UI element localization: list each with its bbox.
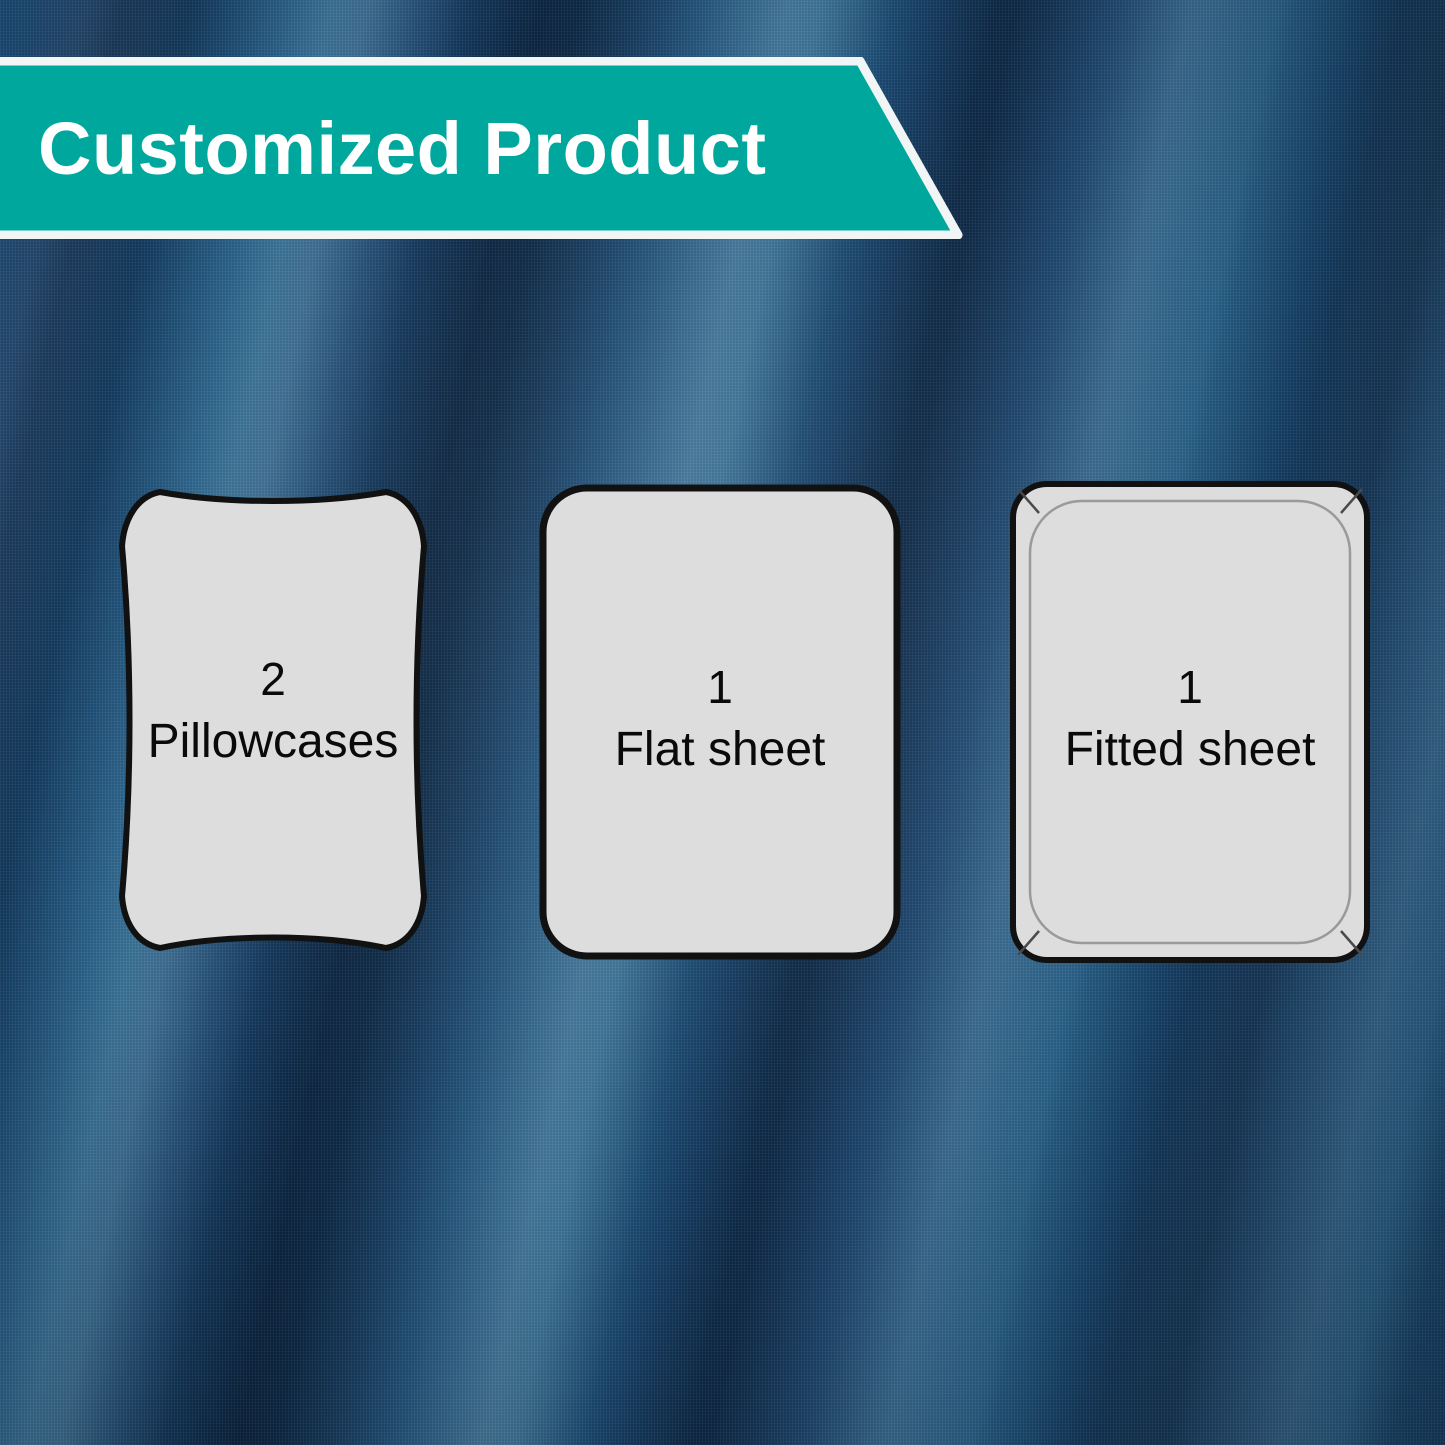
product-item-pillowcases[interactable]: 2 Pillowcases bbox=[108, 470, 438, 970]
fitted-sheet-shape-icon bbox=[1008, 470, 1372, 970]
flat-sheet-shape-icon bbox=[538, 470, 902, 970]
product-item-flat-sheet[interactable]: 1 Flat sheet bbox=[538, 470, 902, 970]
product-item-fitted-sheet[interactable]: 1 Fitted sheet bbox=[1008, 470, 1372, 970]
customized-product-banner: Customized Product bbox=[0, 57, 970, 239]
product-infographic: Customized Product 2 Pillowcases 1 Flat … bbox=[0, 0, 1445, 1445]
product-list: 2 Pillowcases 1 Flat sheet bbox=[0, 470, 1445, 970]
banner-title: Customized Product bbox=[38, 57, 766, 239]
pillowcase-shape-icon bbox=[108, 470, 438, 970]
